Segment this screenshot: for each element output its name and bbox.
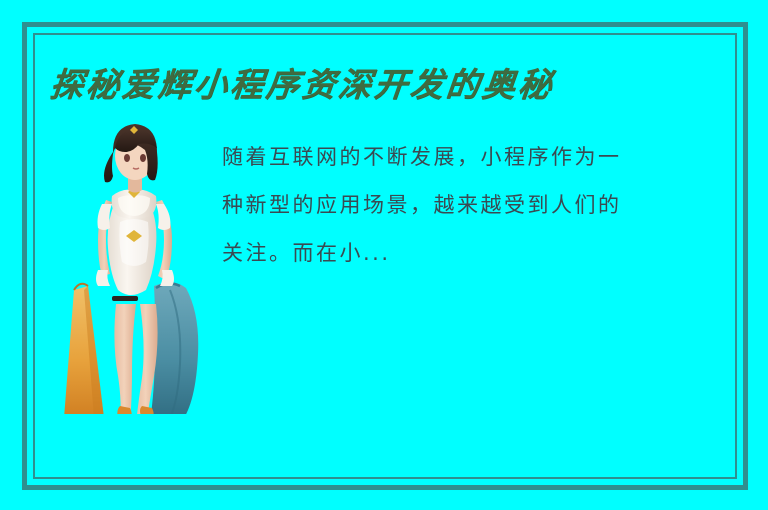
excerpt-line: 随着互联网的不断发展，小程序作为一 (222, 133, 734, 181)
excerpt-line: 种新型的应用场景，越来越受到人们的 (222, 181, 734, 229)
article-excerpt: 随着互联网的不断发展，小程序作为一 种新型的应用场景，越来越受到人们的 关注。而… (222, 133, 734, 277)
article-illustration (58, 118, 226, 414)
article-card: 探秘爱辉小程序资深开发的奥秘 (0, 0, 768, 510)
excerpt-line: 关注。而在小... (222, 229, 734, 277)
article-title: 探秘爱辉小程序资深开发的奥秘 (47, 60, 692, 112)
